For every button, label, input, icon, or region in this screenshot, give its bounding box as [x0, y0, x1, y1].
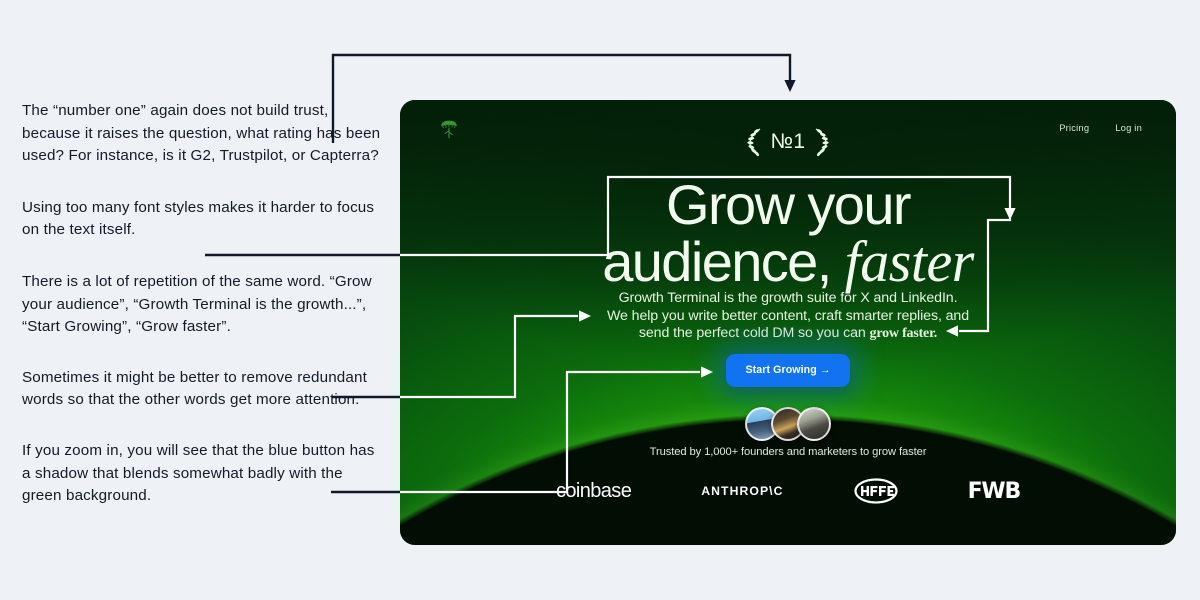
avatar-group: [400, 407, 1176, 441]
coinbase-logo: coinbase: [556, 480, 631, 503]
laurel-left-icon: [745, 127, 763, 157]
anthropic-logo: ANTHROP\C: [701, 484, 783, 498]
hero-headline: Grow your audience, faster: [400, 176, 1176, 292]
annotation-list: The “number one” again does not build tr…: [22, 100, 382, 535]
annotation-note-number-one: The “number one” again does not build tr…: [22, 100, 382, 168]
hero-nav: Pricing Log in: [1059, 122, 1142, 133]
subheading-line-2: We help you write better content, craft …: [400, 308, 1176, 326]
nav-link-login[interactable]: Log in: [1115, 122, 1142, 133]
headline-line-1: Grow your: [400, 176, 1176, 234]
cta-container: Start Growing →: [400, 354, 1176, 387]
hero-panel: №1 Pricing Log in: [400, 100, 1176, 545]
nav-link-pricing[interactable]: Pricing: [1059, 122, 1089, 133]
badge-label: №1: [770, 130, 805, 154]
hero-topbar: №1 Pricing Log in: [400, 100, 1176, 160]
subheading-emphasis: grow faster.: [870, 326, 938, 341]
annotation-note-repetition: There is a lot of repetition of the same…: [22, 271, 382, 339]
laurel-right-icon: [813, 127, 831, 157]
annotation-note-redundant-words: Sometimes it might be better to remove r…: [22, 367, 382, 412]
subheading-line-3-prefix: send the perfect cold DM so you can: [639, 325, 870, 341]
headline-line-2-italic: faster: [845, 229, 974, 294]
start-growing-button[interactable]: Start Growing →: [726, 354, 849, 387]
arrowhead-top: [784, 80, 795, 92]
headline-line-2-plain: audience,: [602, 230, 830, 293]
avatar: [797, 407, 831, 441]
hippie-badge-icon: [854, 478, 898, 504]
annotation-note-button-shadow: If you zoom in, you will see that the bl…: [22, 440, 382, 508]
annotation-note-font-styles: Using too many font styles makes it hard…: [22, 197, 382, 242]
headline-line-2: audience, faster: [400, 232, 1176, 292]
trusted-by-text: Trusted by 1,000+ founders and marketers…: [400, 446, 1176, 458]
fwb-logo: FWB: [968, 479, 1020, 504]
subheading-line-1: Growth Terminal is the growth suite for …: [400, 290, 1176, 308]
hero-subheading: Growth Terminal is the growth suite for …: [400, 290, 1176, 343]
hippie-badge-logo: [854, 478, 898, 504]
subheading-line-3: send the perfect cold DM so you can grow…: [400, 325, 1176, 343]
client-logo-strip: coinbase ANTHROP\C FWB: [400, 478, 1176, 504]
